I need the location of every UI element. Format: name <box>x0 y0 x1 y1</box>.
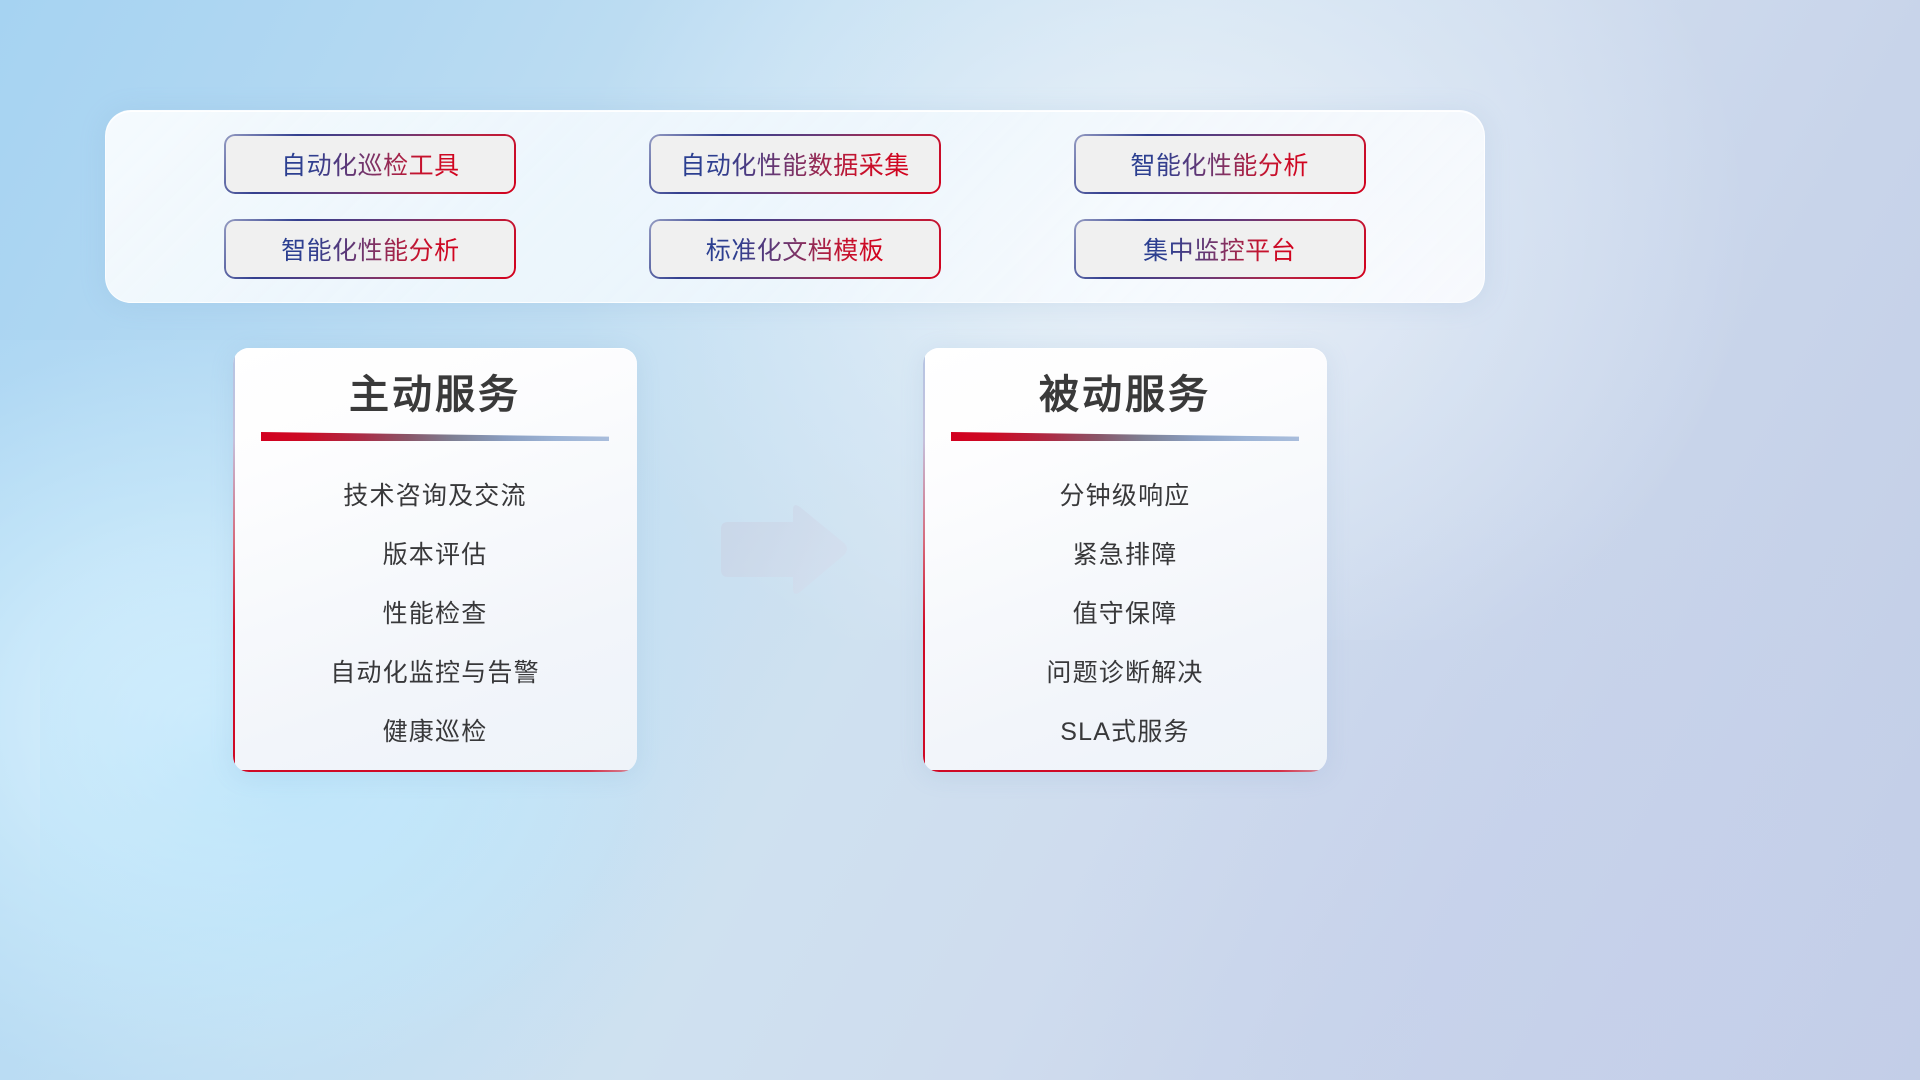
service-list-item: 技术咨询及交流 <box>343 467 526 526</box>
capability-pill-label: 标准化文档模板 <box>706 231 885 267</box>
service-list-item: 值守保障 <box>1073 585 1178 644</box>
arrow-right-icon <box>713 500 853 600</box>
capability-pill-6[interactable]: 集中监控平台 <box>1074 219 1366 279</box>
service-list-item: 自动化监控与告警 <box>330 644 540 703</box>
service-list-item: SLA式服务 <box>1060 703 1189 762</box>
capability-pill-1[interactable]: 自动化巡检工具 <box>224 134 516 194</box>
capability-pill-label: 自动化性能数据采集 <box>680 146 910 182</box>
capability-pill-3[interactable]: 智能化性能分析 <box>1074 134 1366 194</box>
service-list-item: 问题诊断解决 <box>1046 644 1203 703</box>
capability-panel: 自动化巡检工具 自动化性能数据采集 智能化性能分析 智能化性能分析 标准化文档模… <box>105 110 1485 303</box>
capability-pill-label: 智能化性能分析 <box>281 231 460 267</box>
service-list-item: 性能检查 <box>383 585 488 644</box>
service-list-item: 健康巡检 <box>383 703 488 762</box>
service-list-item: 版本评估 <box>383 526 488 585</box>
capability-pill-label: 自动化巡检工具 <box>281 146 460 182</box>
card-title: 主动服务 <box>349 370 521 420</box>
card-title: 被动服务 <box>1039 370 1211 420</box>
service-list-item: 紧急排障 <box>1073 526 1178 585</box>
service-list-item: 分钟级响应 <box>1059 467 1190 526</box>
service-card-proactive: 主动服务 技术咨询及交流 版本评估 性能检查 自动化监控与告警 健康巡检 <box>233 348 637 772</box>
capability-pill-label: 智能化性能分析 <box>1130 146 1309 182</box>
card-title-divider <box>951 432 1299 441</box>
service-card-reactive: 被动服务 分钟级响应 紧急排障 值守保障 问题诊断解决 SLA式服务 <box>923 348 1327 772</box>
capability-pill-5[interactable]: 标准化文档模板 <box>649 219 941 279</box>
card-title-divider <box>261 432 609 441</box>
capability-pill-2[interactable]: 自动化性能数据采集 <box>649 134 941 194</box>
capability-pill-4[interactable]: 智能化性能分析 <box>224 219 516 279</box>
service-item-list: 分钟级响应 紧急排障 值守保障 问题诊断解决 SLA式服务 <box>923 467 1327 762</box>
capability-pill-label: 集中监控平台 <box>1143 231 1296 267</box>
service-item-list: 技术咨询及交流 版本评估 性能检查 自动化监控与告警 健康巡检 <box>233 467 637 762</box>
